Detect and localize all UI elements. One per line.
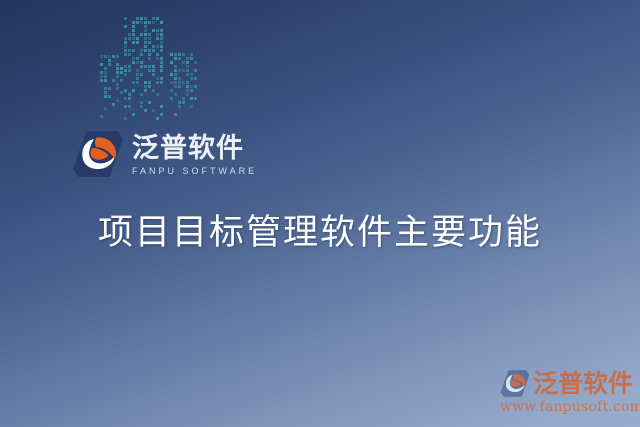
skyline-pixel	[140, 17, 143, 20]
skyline-pixel	[132, 113, 135, 116]
skyline-pixel	[152, 109, 155, 112]
skyline-pixel	[128, 33, 131, 36]
skyline-pixel	[152, 73, 155, 76]
skyline-pixel	[128, 37, 131, 40]
skyline-pixel	[160, 41, 163, 44]
skyline-pixel	[100, 75, 103, 78]
skyline-pixel	[116, 83, 119, 86]
skyline-pixel	[104, 95, 107, 98]
skyline-pixel	[108, 95, 111, 98]
skyline-pixel	[132, 81, 135, 84]
skyline-pixel	[108, 55, 111, 58]
skyline-pixel	[136, 57, 139, 60]
skyline-pixel	[174, 57, 177, 60]
skyline-pixel	[170, 81, 173, 84]
watermark-brand-name: 泛普软件	[533, 371, 633, 396]
skyline-pixel	[178, 105, 181, 108]
skyline-pixel	[186, 65, 189, 68]
skyline-pixel	[182, 61, 185, 64]
skyline-pixel	[144, 65, 147, 68]
skyline-pixel	[170, 73, 173, 76]
skyline-pixel	[160, 29, 163, 32]
skyline-pixel	[100, 71, 103, 74]
skyline-pixel	[170, 53, 173, 56]
skyline-pixel	[144, 49, 147, 52]
skyline-pixel	[148, 49, 151, 52]
skyline-pixel	[170, 89, 173, 92]
skyline-pixel	[178, 57, 181, 60]
skyline-pixel	[160, 69, 163, 72]
skyline-pixel	[148, 33, 151, 36]
skyline-pixel	[100, 63, 103, 66]
skyline-pixel	[190, 97, 193, 100]
skyline-pixel	[148, 65, 151, 68]
skyline-pixel	[128, 93, 131, 96]
skyline-pixel	[104, 91, 107, 94]
skyline-pixel	[116, 87, 119, 90]
pixel-buildings-graphic	[100, 17, 200, 125]
skyline-pixel	[148, 41, 151, 44]
skyline-pixel	[170, 61, 173, 64]
skyline-pixel	[104, 79, 107, 82]
skyline-pixel	[148, 57, 151, 60]
skyline-pixel	[178, 81, 181, 84]
brand-logo-text: 泛普软件 FANPU SOFTWARE	[132, 133, 257, 176]
skyline-pixel	[140, 61, 143, 64]
skyline-pixel	[124, 41, 127, 44]
skyline-pixel	[136, 17, 139, 20]
skyline-pixel	[178, 77, 181, 80]
skyline-pixel	[194, 97, 197, 100]
skyline-pixel	[116, 63, 119, 66]
skyline-pixel	[144, 89, 147, 92]
skyline-pixel	[190, 105, 193, 108]
skyline-pixel	[144, 37, 147, 40]
skyline-pixel	[144, 25, 147, 28]
skyline-pixel	[136, 77, 139, 80]
skyline-pixel	[186, 85, 189, 88]
skyline-pixel	[140, 65, 143, 68]
watermark-logo-row: 泛普软件	[500, 369, 636, 398]
skyline-pixel	[136, 41, 139, 44]
fanpu-watermark-logo-icon	[500, 369, 530, 398]
skyline-pixel	[132, 37, 135, 40]
skyline-pixel	[100, 115, 103, 118]
skyline-pixel	[178, 101, 181, 104]
skyline-pixel	[182, 81, 185, 84]
skyline-pixel	[120, 71, 123, 74]
skyline-pixel	[174, 53, 177, 56]
skyline-pixel	[174, 77, 177, 80]
skyline-pixel	[156, 45, 159, 48]
skyline-pixel	[132, 61, 135, 64]
skyline-pixel	[144, 109, 147, 112]
brand-name-en: FANPU SOFTWARE	[132, 166, 257, 176]
skyline-pixel	[140, 105, 143, 108]
skyline-pixel	[178, 69, 181, 72]
skyline-pixel	[160, 77, 163, 80]
skyline-pixel	[140, 73, 143, 76]
skyline-pixel	[152, 89, 155, 92]
skyline-pixel	[144, 17, 147, 20]
skyline-pixel	[132, 29, 135, 32]
skyline-pixel	[120, 67, 123, 70]
skyline-pixel	[132, 25, 135, 28]
skyline-pixel	[152, 65, 155, 68]
skyline-pixel	[136, 69, 139, 72]
skyline-pixel	[128, 105, 131, 108]
skyline-pixel	[140, 53, 143, 56]
skyline-pixel	[140, 49, 143, 52]
skyline-pixel	[152, 69, 155, 72]
skyline-pixel	[152, 17, 155, 20]
skyline-pixel	[160, 105, 163, 108]
skyline-pixel	[116, 99, 119, 102]
skyline-pixel	[124, 97, 127, 100]
skyline-pixel	[100, 79, 103, 82]
skyline-pixel	[152, 29, 155, 32]
skyline-pixel	[128, 69, 131, 72]
skyline-pixel	[194, 61, 197, 64]
skyline-pixel	[116, 55, 119, 58]
skyline-pixel	[186, 81, 189, 84]
skyline-pixel	[194, 85, 197, 88]
skyline-pixel	[186, 93, 189, 96]
page-title: 项目目标管理软件主要功能	[0, 204, 640, 255]
watermark: 泛普软件 www.fanpusoft.com	[500, 369, 636, 415]
skyline-pixel	[182, 69, 185, 72]
skyline-pixel	[152, 49, 155, 52]
skyline-pixel	[190, 57, 193, 60]
skyline-pixel	[186, 69, 189, 72]
skyline-pixel	[124, 105, 127, 108]
skyline-pixel	[160, 65, 163, 68]
skyline-pixel	[144, 41, 147, 44]
skyline-pixel	[170, 97, 173, 100]
skyline-pixel	[182, 53, 185, 56]
watermark-url: www.fanpusoft.com	[500, 399, 636, 415]
skyline-pixel	[190, 77, 193, 80]
skyline-pixel	[160, 57, 163, 60]
skyline-pixel	[144, 33, 147, 36]
skyline-pixel	[124, 17, 127, 20]
skyline-pixel	[132, 57, 135, 60]
skyline-pixel	[186, 61, 189, 64]
skyline-pixel	[136, 73, 139, 76]
skyline-pixel	[174, 85, 177, 88]
skyline-pixel	[104, 67, 107, 70]
skyline-pixel	[160, 61, 163, 64]
skyline-pixel	[124, 73, 127, 76]
skyline-pixel	[174, 65, 177, 68]
skyline-pixel	[160, 81, 163, 84]
skyline-pixel	[156, 53, 159, 56]
skyline-pixel	[124, 25, 127, 28]
skyline-pixel	[182, 97, 185, 100]
skyline-pixel	[104, 55, 107, 58]
skyline-pixel	[178, 53, 181, 56]
skyline-pixel	[174, 73, 177, 76]
skyline-pixel	[174, 113, 177, 116]
skyline-pixel	[124, 69, 127, 72]
skyline-pixel	[140, 33, 143, 36]
skyline-pixel	[148, 81, 151, 84]
skyline-pixel	[144, 85, 147, 88]
skyline-pixel	[112, 103, 115, 106]
skyline-pixel	[124, 37, 127, 40]
skyline-pixel	[124, 53, 127, 56]
skyline-pixel	[104, 75, 107, 78]
skyline-pixel	[144, 29, 147, 32]
skyline-pixel	[194, 69, 197, 72]
skyline-pixel	[120, 79, 123, 82]
skyline-pixel	[156, 57, 159, 60]
skyline-pixel	[186, 73, 189, 76]
skyline-pixel	[108, 63, 111, 66]
skyline-pixel	[156, 33, 159, 36]
skyline-pixel	[132, 41, 135, 44]
skyline-pixel	[144, 81, 147, 84]
skyline-pixel	[186, 57, 189, 60]
skyline-pixel	[128, 53, 131, 56]
skyline-pixel	[132, 49, 135, 52]
skyline-pixel	[116, 71, 119, 74]
brand-logo: 泛普软件 FANPU SOFTWARE	[72, 126, 257, 182]
skyline-pixel	[148, 101, 151, 104]
skyline-pixel	[186, 89, 189, 92]
skyline-pixel	[156, 77, 159, 80]
skyline-pixel	[112, 79, 115, 82]
skyline-pixel	[148, 37, 151, 40]
skyline-pixel	[124, 65, 127, 68]
skyline-pixel	[156, 117, 159, 120]
skyline-pixel	[136, 21, 139, 24]
skyline-pixel	[156, 37, 159, 40]
skyline-pixel	[128, 97, 131, 100]
skyline-pixel	[144, 21, 147, 24]
skyline-pixel	[120, 91, 123, 94]
skyline-pixel	[140, 101, 143, 104]
skyline-pixel	[116, 75, 119, 78]
skyline-pixel	[190, 53, 193, 56]
skyline-pixel	[152, 21, 155, 24]
skyline-pixel	[132, 89, 135, 92]
skyline-pixel	[124, 45, 127, 48]
skyline-pixel	[136, 37, 139, 40]
skyline-pixel	[156, 81, 159, 84]
skyline-pixel	[148, 69, 151, 72]
skyline-pixel	[182, 101, 185, 104]
skyline-pixel	[116, 67, 119, 70]
skyline-pixel	[128, 49, 131, 52]
skyline-pixel	[148, 53, 151, 56]
skyline-pixel	[160, 33, 163, 36]
skyline-pixel	[104, 87, 107, 90]
skyline-pixel	[112, 55, 115, 58]
skyline-pixel	[160, 113, 163, 116]
skyline-pixel	[124, 117, 127, 120]
slide-canvas: 泛普软件 FANPU SOFTWARE 项目目标管理软件主要功能 泛普软件 ww…	[0, 0, 640, 427]
skyline-pixel	[152, 45, 155, 48]
skyline-pixel	[132, 21, 135, 24]
skyline-pixel	[128, 65, 131, 68]
skyline-pixel	[108, 87, 111, 90]
skyline-pixel	[160, 21, 163, 24]
skyline-pixel	[194, 77, 197, 80]
skyline-pixel	[174, 93, 177, 96]
skyline-pixel	[148, 21, 151, 24]
skyline-pixel	[174, 69, 177, 72]
skyline-pixel	[124, 89, 127, 92]
fanpu-hexagon-logo-icon	[72, 129, 124, 179]
skyline-pixel	[144, 45, 147, 48]
skyline-pixel	[190, 85, 193, 88]
skyline-pixel	[148, 85, 151, 88]
skyline-pixel	[104, 107, 107, 110]
skyline-pixel	[140, 21, 143, 24]
skyline-pixel	[104, 71, 107, 74]
skyline-pixel	[136, 61, 139, 64]
skyline-pixel	[100, 55, 103, 58]
skyline-pixel	[124, 49, 127, 52]
brand-name-cn: 泛普软件	[132, 135, 257, 162]
skyline-pixel	[190, 89, 193, 92]
skyline-pixel	[136, 81, 139, 84]
skyline-pixel	[156, 29, 159, 32]
skyline-pixel	[160, 45, 163, 48]
skyline-pixel	[160, 37, 163, 40]
skyline-pixel	[108, 59, 111, 62]
skyline-pixel	[140, 93, 143, 96]
skyline-pixel	[178, 85, 181, 88]
skyline-pixel	[174, 81, 177, 84]
skyline-pixel	[190, 73, 193, 76]
skyline-pixel	[156, 93, 159, 96]
skyline-pixel	[132, 33, 135, 36]
skyline-pixel	[156, 17, 159, 20]
skyline-pixel	[160, 49, 163, 52]
